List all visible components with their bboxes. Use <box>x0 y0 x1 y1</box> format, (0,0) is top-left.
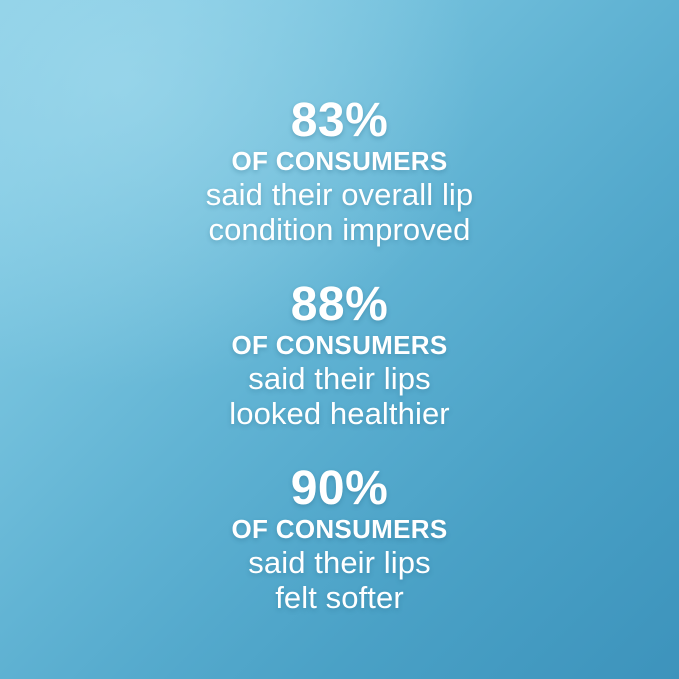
stat-description-line: said their overall lip <box>0 177 679 212</box>
stat-percent-value: 90% <box>0 464 679 514</box>
stat-percent-value: 88% <box>0 280 679 330</box>
stat-block: 90% OF CONSUMERS said their lips felt so… <box>0 464 679 615</box>
stat-block: 83% OF CONSUMERS said their overall lip … <box>0 96 679 247</box>
stat-description-line: said their lips <box>0 361 679 396</box>
stat-description: said their lips looked healthier <box>0 361 679 431</box>
stat-description-line: felt softer <box>0 580 679 615</box>
stat-percent-value: 83% <box>0 96 679 146</box>
stat-description: said their lips felt softer <box>0 545 679 615</box>
stat-subject-label: OF CONSUMERS <box>0 146 679 177</box>
consumer-stats-infographic: 83% OF CONSUMERS said their overall lip … <box>0 0 679 679</box>
stats-list: 83% OF CONSUMERS said their overall lip … <box>0 0 679 615</box>
stat-description-line: condition improved <box>0 212 679 247</box>
stat-description-line: looked healthier <box>0 396 679 431</box>
stat-subject-label: OF CONSUMERS <box>0 330 679 361</box>
stat-subject-label: OF CONSUMERS <box>0 514 679 545</box>
stat-block: 88% OF CONSUMERS said their lips looked … <box>0 280 679 431</box>
stat-description: said their overall lip condition improve… <box>0 177 679 247</box>
stat-description-line: said their lips <box>0 545 679 580</box>
